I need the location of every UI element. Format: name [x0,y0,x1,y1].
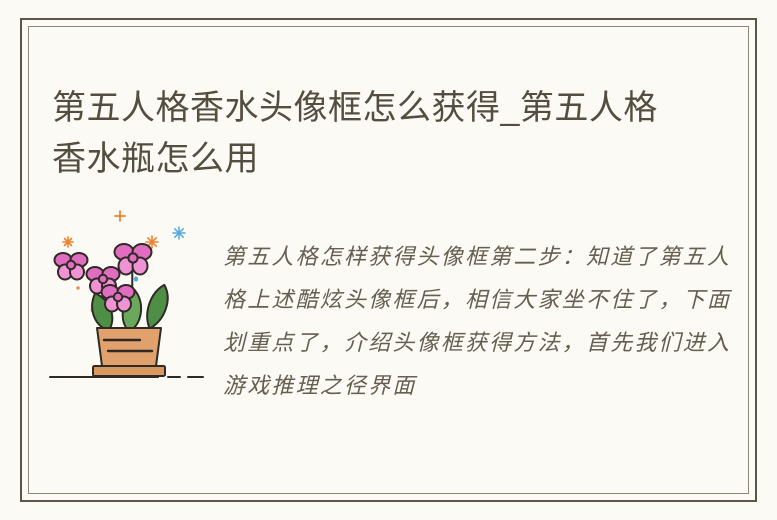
sparkle-orange-dot-2-icon [76,286,79,289]
page-title: 第五人格香水头像框怎么获得_第五人格香水瓶怎么用 [52,83,692,186]
sparkle-blue-small-icon [134,277,138,282]
sparkle-orange-plus-icon [115,211,125,221]
content-area: 第五人格怎样获得头像框第二步：知道了第五人格上述酷炫头像框后，相信大家坐不住了，… [40,196,740,466]
article-card: 第五人格香水头像框怎么获得_第五人格香水瓶怎么用 [0,0,777,520]
potted-orchid-illustration [40,200,215,390]
flower-pot [93,328,165,376]
sparkle-orange-burst-icon [63,237,73,247]
article-body-text: 第五人格怎样获得头像框第二步：知道了第五人格上述酷炫头像框后，相信大家坐不住了，… [223,218,740,408]
sparkle-blue-burst-icon [173,227,185,239]
orchid-plant-graphic [40,200,215,390]
